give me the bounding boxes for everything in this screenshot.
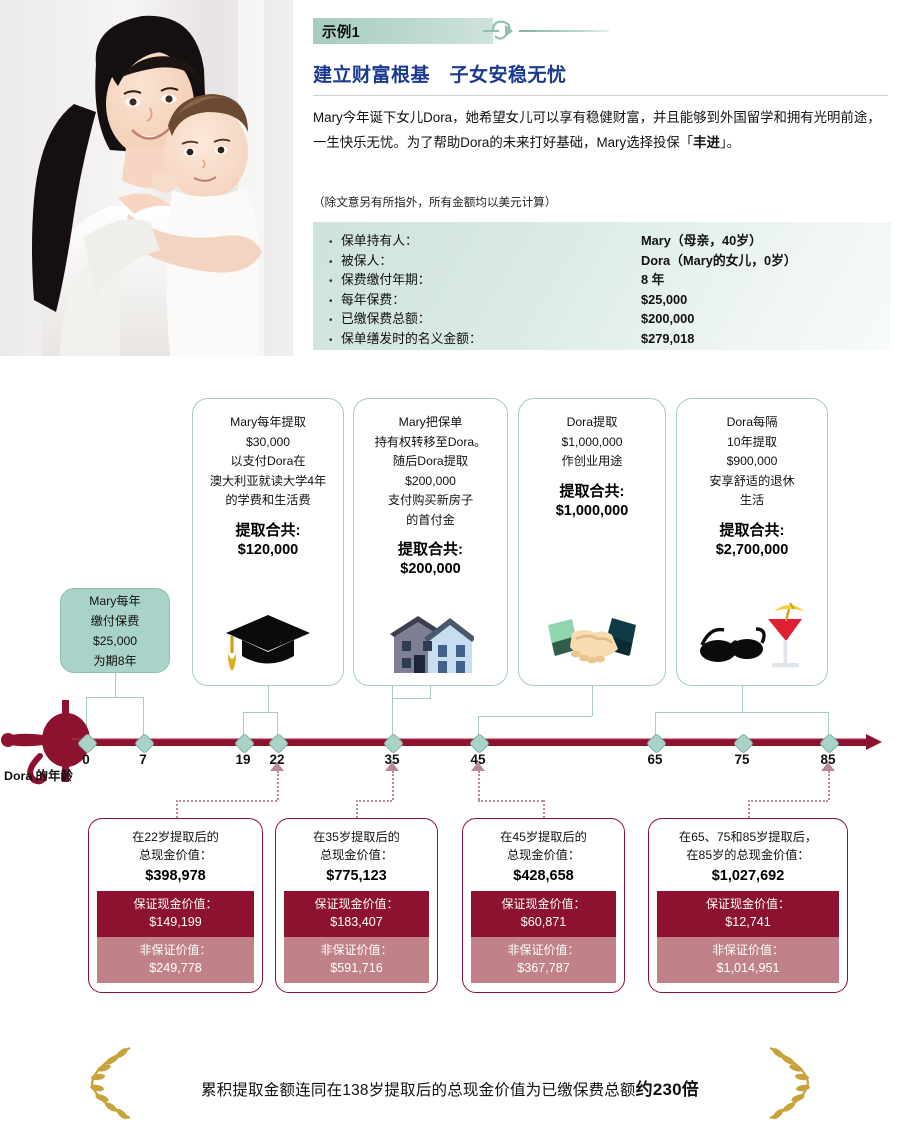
callout-connector (543, 800, 545, 818)
house-icon (354, 603, 507, 675)
cash-value-total: $428,658 (463, 868, 624, 891)
fact-value: Dora（Mary的女儿，0岁） (641, 250, 797, 269)
timeline-axis-arrow-icon (866, 734, 882, 750)
nonguaranteed-label: 非保证价值： (288, 942, 425, 959)
bullet-icon: • (329, 253, 341, 272)
callout-connector (356, 800, 392, 802)
callout-connector (828, 771, 830, 800)
fact-value: $25,000 (641, 292, 687, 307)
premium-payment-card-text: Mary每年缴付保费$25,000为期8年 (89, 591, 140, 671)
milestone-total-value: $1,000,000 (519, 502, 665, 521)
cash-value-box[interactable]: 在22岁提取后的总现金价值：$398,978保证现金价值：$149,199非保证… (88, 818, 263, 993)
cash-value-box[interactable]: 在65、75和85岁提取后，在85岁的总现金价值：$1,027,692保证现金价… (648, 818, 848, 993)
infographic-root: 示例1 建立财富根基 子女安稳无忧 Mary今年诞下女儿Dora，她希望女儿可以… (0, 0, 900, 1131)
fact-label: 保单缮发时的名义金额： (341, 328, 641, 347)
premium-payment-card[interactable]: Mary每年缴付保费$25,000为期8年 (60, 588, 170, 673)
example-banner-label: 示例1 (322, 21, 360, 42)
graduation-cap-icon (193, 603, 343, 675)
connector-bracket (243, 712, 277, 713)
callout-arrow-icon (385, 762, 399, 771)
callout-arrow-icon (471, 762, 485, 771)
fact-value: $200,000 (641, 311, 694, 326)
banner-trailing-line (519, 30, 609, 32)
cash-value-title: 在65、75和85岁提取后，在85岁的总现金价值： (649, 819, 847, 868)
footer-summary: 累积提取金额连同在138岁提取后的总现金价值为已缴保费总额约230倍 (0, 1075, 900, 1100)
connector-line (742, 686, 743, 712)
cash-value-total: $775,123 (276, 868, 437, 891)
timeline-tick-label: 0 (82, 752, 90, 767)
nonguaranteed-value: $591,716 (288, 959, 425, 977)
bullet-icon: • (329, 311, 341, 330)
connector-line (592, 686, 593, 716)
milestone-card-description: Dora提取$1,000,000作创业用途 (519, 399, 665, 472)
timeline-tick-7[interactable] (133, 733, 154, 754)
handshake-icon (519, 603, 665, 675)
guaranteed-value-band: 保证现金价值：$12,741 (657, 891, 839, 937)
fact-value: 8 年 (641, 269, 664, 288)
fact-value: $279,018 (641, 331, 694, 346)
nonguaranteed-value: $1,014,951 (661, 959, 835, 977)
fact-row: •保费缴付年期：8 年 (313, 269, 891, 289)
nonguaranteed-value: $367,787 (475, 959, 612, 977)
callout-connector (478, 771, 480, 800)
guaranteed-value: $149,199 (101, 913, 250, 931)
milestone-total-value: $200,000 (354, 560, 507, 579)
cash-value-box[interactable]: 在35岁提取后的总现金价值：$775,123保证现金价值：$183,407非保证… (275, 818, 438, 993)
fact-row: •保单持有人：Mary（母亲，40岁） (313, 230, 891, 250)
cash-value-total: $398,978 (89, 868, 262, 891)
intro-paragraph-text: Mary今年诞下女儿Dora，她希望女儿可以享有稳健财富，并且能够到外国留学和拥… (313, 110, 881, 150)
guaranteed-label: 保证现金价值： (475, 896, 612, 913)
guaranteed-value: $183,407 (288, 913, 425, 931)
bullet-icon: • (329, 331, 341, 350)
guaranteed-value: $12,741 (661, 913, 835, 931)
connector-line (143, 697, 144, 739)
fact-row: •每年保费：$25,000 (313, 289, 891, 309)
milestone-card-description: Mary每年提取$30,000以支付Dora在澳大利亚就读大学4年的学费和生活费 (193, 399, 343, 511)
milestone-card-description: Dora每隔10年提取$900,000安享舒适的退休生活 (677, 399, 827, 511)
currency-note: （除文意另有所指外，所有金额均以美元计算） (313, 194, 891, 210)
callout-connector (356, 800, 358, 818)
timeline-tick-35[interactable] (382, 733, 403, 754)
timeline-tick-85[interactable] (818, 733, 839, 754)
callout-connector (392, 771, 394, 800)
callout-connector (748, 800, 828, 802)
nonguaranteed-value-band: 非保证价值：$367,787 (471, 937, 616, 983)
cash-value-title: 在22岁提取后的总现金价值： (89, 819, 262, 868)
nonguaranteed-value-band: 非保证价值：$591,716 (284, 937, 429, 983)
milestone-card-business[interactable]: Dora提取$1,000,000作创业用途提取合共:$1,000,000 (518, 398, 666, 686)
nonguaranteed-label: 非保证价值： (101, 942, 250, 959)
milestone-card-retirement[interactable]: Dora每隔10年提取$900,000安享舒适的退休生活提取合共:$2,700,… (676, 398, 828, 686)
nonguaranteed-value: $249,778 (101, 959, 250, 977)
guaranteed-label: 保证现金价值： (288, 896, 425, 913)
fact-row: •已缴保费总额：$200,000 (313, 308, 891, 328)
cash-value-box[interactable]: 在45岁提取后的总现金价值：$428,658保证现金价值：$60,871非保证价… (462, 818, 625, 993)
fact-label: 保费缴付年期： (341, 269, 641, 288)
cash-value-title: 在45岁提取后的总现金价值： (463, 819, 624, 868)
page-title: 建立财富根基 子女安稳无忧 (313, 60, 567, 87)
callout-arrow-icon (270, 762, 284, 771)
milestone-card-home[interactable]: Mary把保单持有权转移至Dora。随后Dora提取$200,000支付购买新房… (353, 398, 508, 686)
connector-line (478, 716, 592, 717)
fact-label: 保单持有人： (341, 230, 641, 249)
timeline-axis-label: Dora 的年龄 (4, 766, 73, 784)
milestone-card-education[interactable]: Mary每年提取$30,000以支付Dora在澳大利亚就读大学4年的学费和生活费… (192, 398, 344, 686)
banner-arrow-icon (483, 18, 519, 44)
mother-baby-photo-illustration (0, 0, 293, 356)
milestone-card-description: Mary把保单持有权转移至Dora。随后Dora提取$200,000支付购买新房… (354, 399, 507, 530)
header-divider (313, 95, 888, 96)
bullet-icon: • (329, 233, 341, 252)
connector-line (392, 698, 431, 699)
timeline-tick-45[interactable] (468, 733, 489, 754)
milestone-total-label: 提取合共: (519, 482, 665, 502)
fact-row: •被保人：Dora（Mary的女儿，0岁） (313, 250, 891, 270)
guaranteed-label: 保证现金价值： (101, 896, 250, 913)
fact-row: •保单缮发时的名义金额：$279,018 (313, 328, 891, 348)
connector-line (115, 673, 116, 697)
milestone-total-label: 提取合共: (677, 521, 827, 541)
sunglasses-cocktail-icon (677, 603, 827, 675)
footer-summary-highlight: 约230倍 (636, 1080, 699, 1099)
connector-line (268, 686, 269, 712)
timeline-tick-label: 65 (647, 752, 662, 767)
milestone-total-value: $2,700,000 (677, 541, 827, 560)
callout-connector (478, 800, 543, 802)
fact-label: 已缴保费总额： (341, 308, 641, 327)
timeline-tick-label: 7 (139, 752, 147, 767)
bullet-icon: • (329, 272, 341, 291)
hero-photo (0, 0, 293, 356)
bullet-icon: • (329, 292, 341, 311)
fact-label: 被保人： (341, 250, 641, 269)
timeline-tick-label: 75 (734, 752, 749, 767)
timeline-tick-75[interactable] (732, 733, 753, 754)
fact-label: 每年保费： (341, 289, 641, 308)
guaranteed-value-band: 保证现金价值：$60,871 (471, 891, 616, 937)
timeline-tick-65[interactable] (645, 733, 666, 754)
guaranteed-label: 保证现金价值： (661, 896, 835, 913)
callout-connector (176, 800, 277, 802)
callout-connector (176, 800, 178, 818)
milestone-total-label: 提取合共: (193, 521, 343, 541)
intro-paragraph: Mary今年诞下女儿Dora，她希望女儿可以享有稳健财富，并且能够到外国留学和拥… (313, 105, 891, 155)
milestone-total-value: $120,000 (193, 541, 343, 560)
nonguaranteed-value-band: 非保证价值：$249,778 (97, 937, 254, 983)
fact-value: Mary（母亲，40岁） (641, 230, 762, 249)
footer-summary-text: 累积提取金额连同在138岁提取后的总现金价值为已缴保费总额 (201, 1082, 636, 1099)
cash-value-title: 在35岁提取后的总现金价值： (276, 819, 437, 868)
guaranteed-value: $60,871 (475, 913, 612, 931)
callout-arrow-icon (821, 762, 835, 771)
cash-value-total: $1,027,692 (649, 868, 847, 891)
connector-line (430, 686, 431, 698)
policy-facts-panel: •保单持有人：Mary（母亲，40岁）•被保人：Dora（Mary的女儿，0岁）… (313, 222, 891, 350)
timeline-tick-22[interactable] (267, 733, 288, 754)
callout-connector (748, 800, 750, 818)
nonguaranteed-label: 非保证价值： (475, 942, 612, 959)
callout-connector (277, 771, 279, 800)
timeline-tick-label: 19 (235, 752, 250, 767)
connector-bracket (655, 712, 828, 713)
nonguaranteed-value-band: 非保证价值：$1,014,951 (657, 937, 839, 983)
guaranteed-value-band: 保证现金价值：$149,199 (97, 891, 254, 937)
nonguaranteed-label: 非保证价值： (661, 942, 835, 959)
guaranteed-value-band: 保证现金价值：$183,407 (284, 891, 429, 937)
milestone-total-label: 提取合共: (354, 540, 507, 560)
timeline-tick-19[interactable] (233, 733, 254, 754)
